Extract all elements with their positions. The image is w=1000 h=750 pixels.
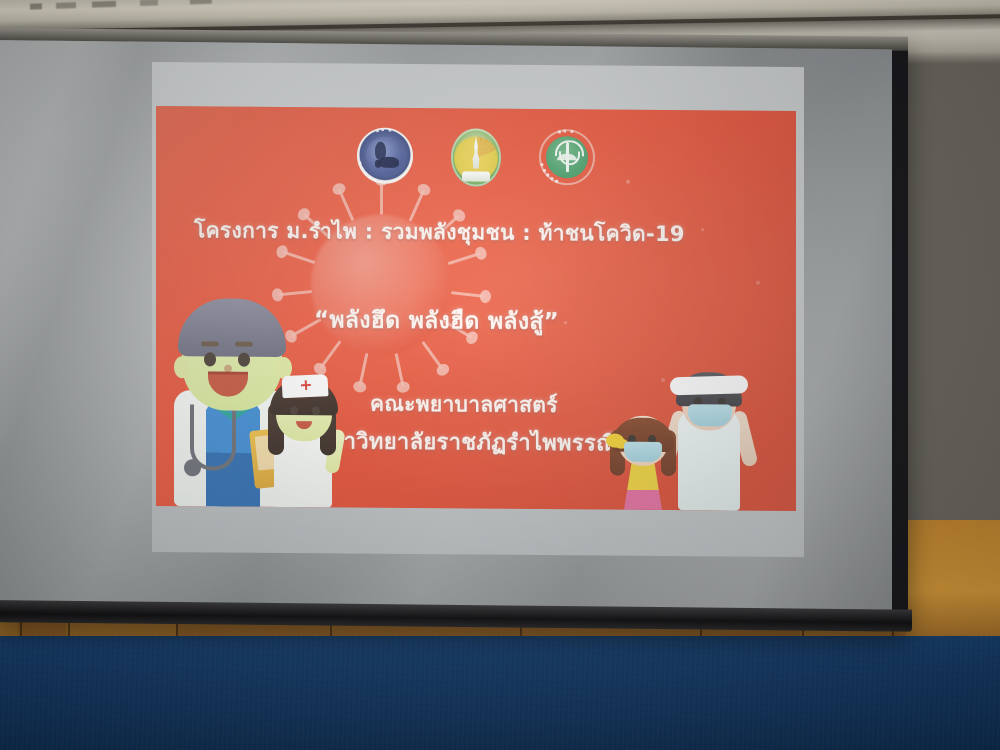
carpet-texture <box>0 636 1000 750</box>
hair-bow-icon <box>606 434 624 448</box>
screenshot-root: โครงการ ม.รำไพ : รวมพลังชุมชน : ท้าชนโคว… <box>0 0 1000 750</box>
slide-org-line-1: คณะพยาบาลศาสตร์ <box>370 388 558 422</box>
cartoon-nurse-with-cap <box>260 367 344 508</box>
face-mask-icon <box>624 442 662 462</box>
face-mask-icon <box>688 404 732 426</box>
stethoscope-icon <box>190 404 236 470</box>
slide-quote: “พลังฮึด พลังฮืด พลังสู้” <box>314 302 559 340</box>
cartoon-masked-girl <box>606 408 680 511</box>
slide-org-line-2: มหาวิทยาลัยราชภัฏรำไพพรรณี <box>314 423 617 460</box>
presentation-slide: โครงการ ม.รำไพ : รวมพลังชุมชน : ท้าชนโคว… <box>156 106 796 511</box>
beam-markings <box>30 0 280 10</box>
nurse-cap-icon <box>670 375 749 395</box>
nurse-cap-red-cross-icon <box>281 374 328 398</box>
slide-title: โครงการ ม.รำไพ : รวมพลังชุมชน : ท้าชนโคว… <box>194 214 685 251</box>
